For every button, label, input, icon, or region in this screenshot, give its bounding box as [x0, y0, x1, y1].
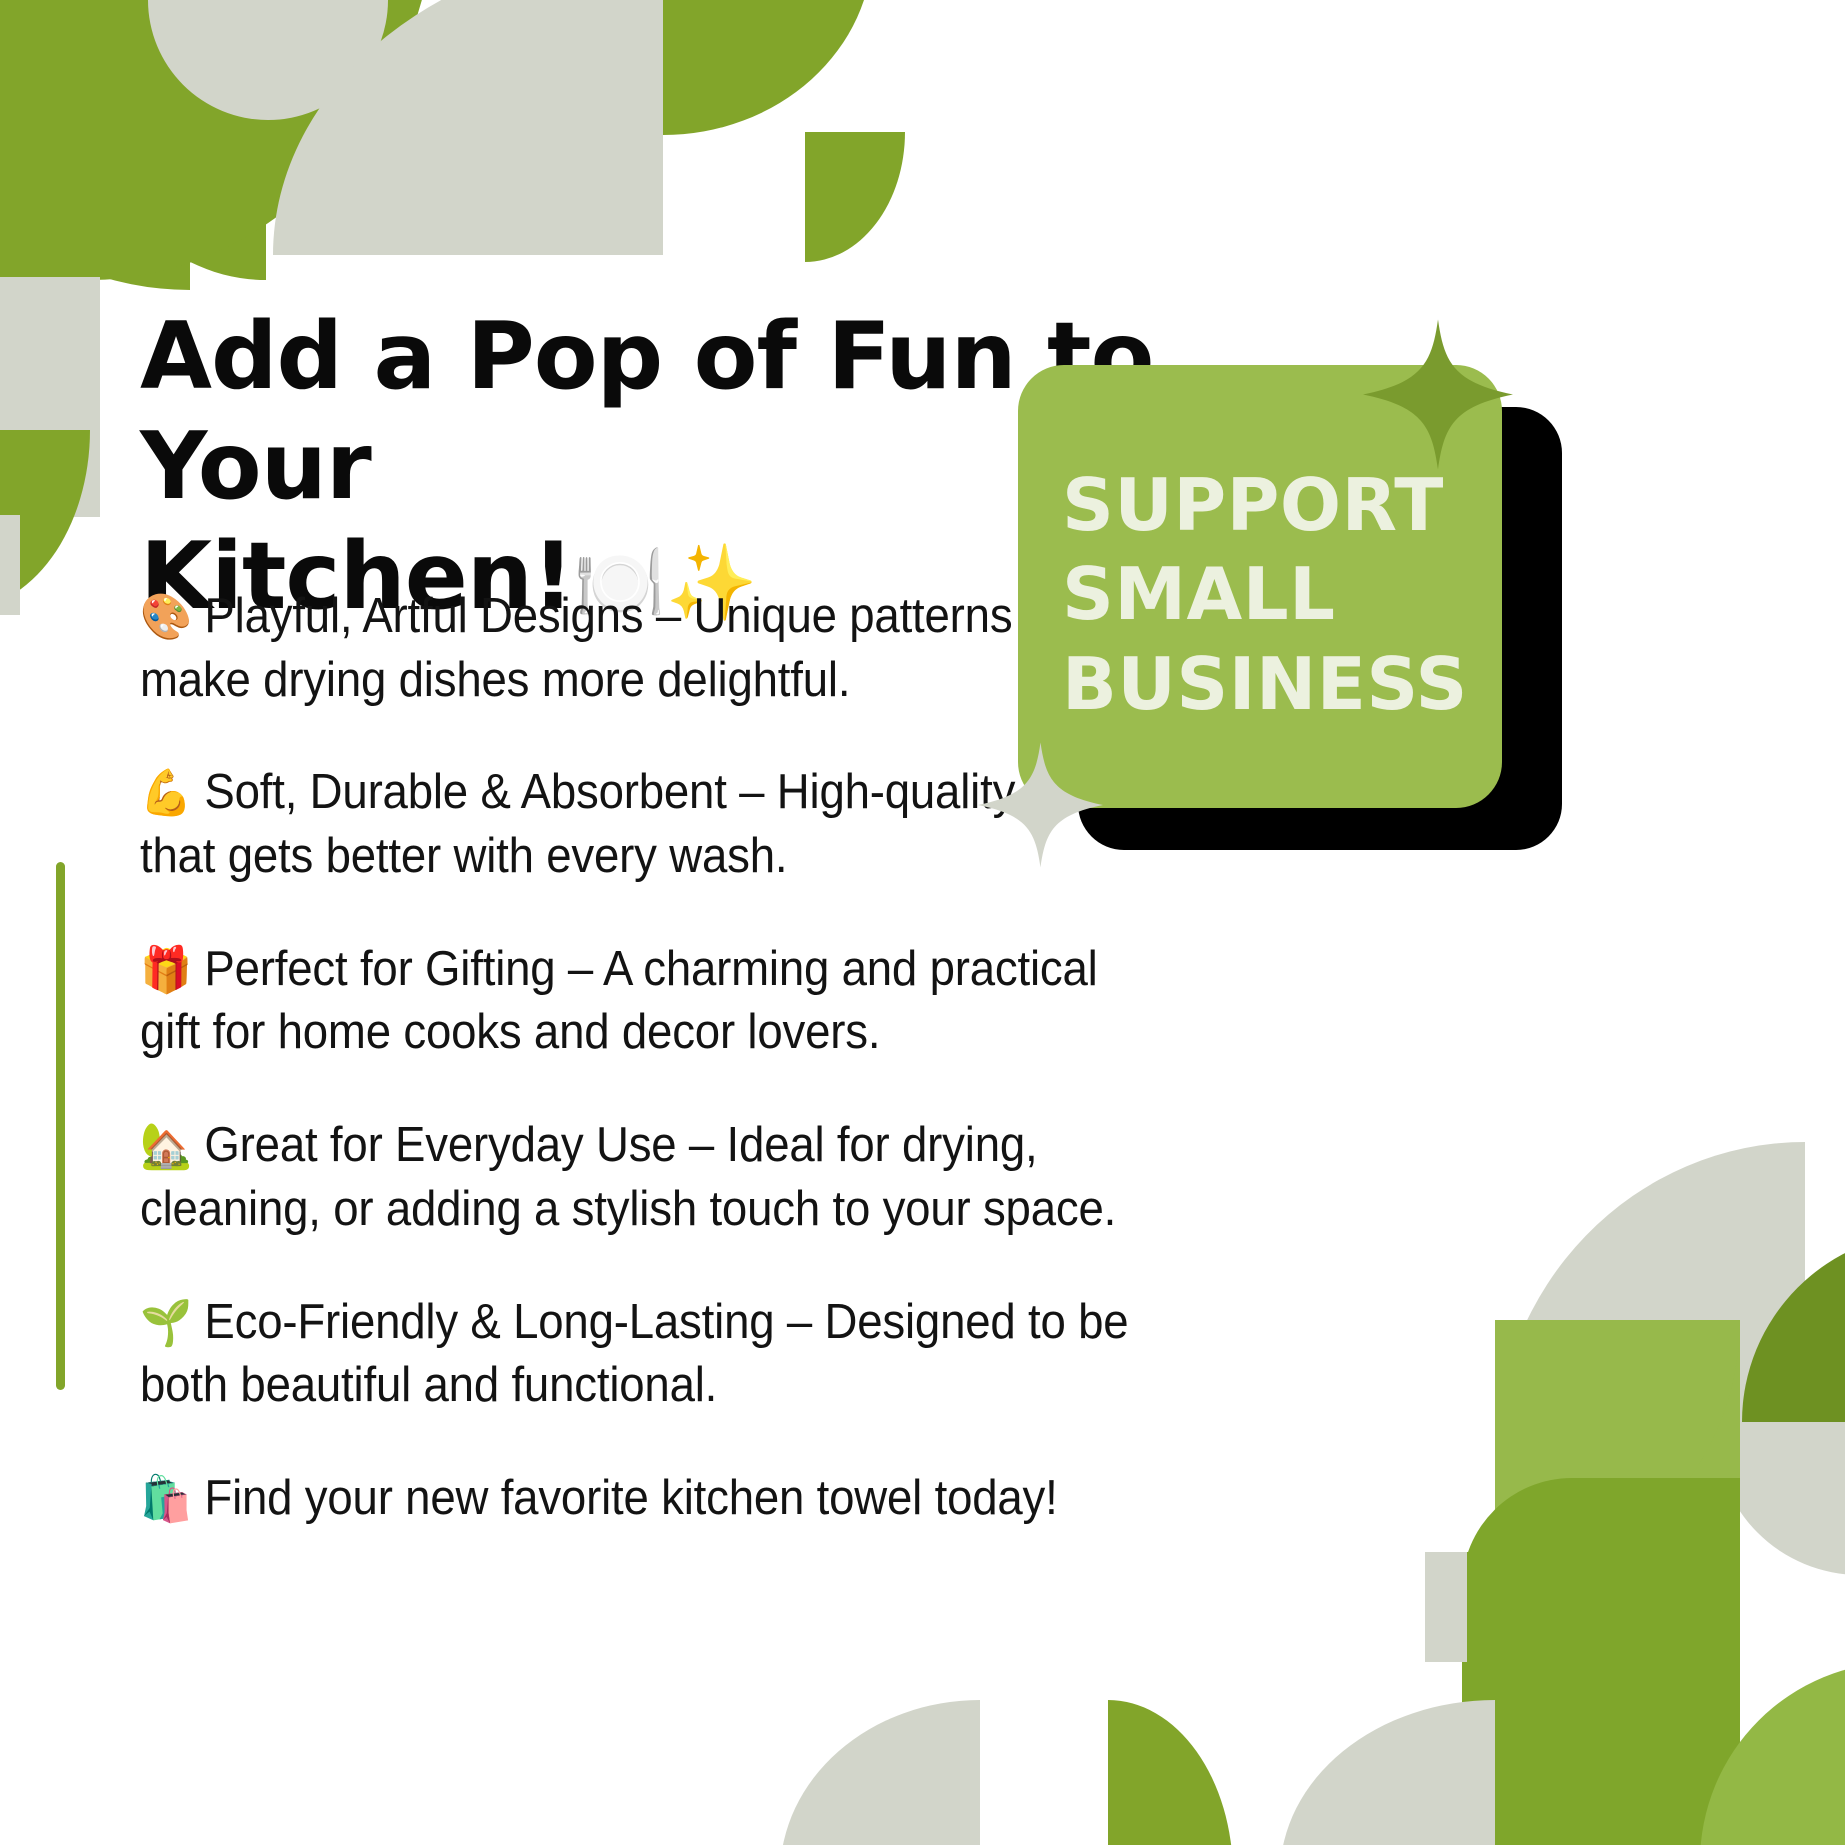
content-layer: Add a Pop of Fun to YourKitchen!🍽️✨ 🎨 Pl… [0, 0, 1845, 1845]
list-item-text: Eco-Friendly & Long-Lasting – Designed t… [140, 1295, 1128, 1413]
badge-line-1: SUPPORT [1062, 461, 1482, 550]
poster-canvas: Add a Pop of Fun to YourKitchen!🍽️✨ 🎨 Pl… [0, 0, 1845, 1845]
feature-list: 🎨 Playful, Artful Designs – Unique patte… [140, 536, 1170, 1531]
list-item: 🏡 Great for Everyday Use – Ideal for dry… [140, 1114, 1168, 1241]
list-item-text: Perfect for Gifting – A charming and pra… [140, 942, 1098, 1060]
badge-line-3: BUSINESS [1062, 640, 1482, 729]
artist-palette-icon: 🎨 [140, 591, 192, 642]
list-item: 🎁 Perfect for Gifting – A charming and p… [140, 938, 1168, 1065]
support-small-business-badge: SUPPORT SMALL BUSINESS [1018, 365, 1578, 855]
headline-line-1: Add a Pop of Fun to Your [140, 302, 1153, 520]
seedling-icon: 🌱 [140, 1297, 192, 1348]
shopping-bags-icon: 🛍️ [140, 1473, 192, 1524]
list-item: 🌱 Eco-Friendly & Long-Lasting – Designed… [140, 1291, 1168, 1418]
list-item-text: Great for Everyday Use – Ideal for dryin… [140, 1118, 1116, 1236]
badge-text: SUPPORT SMALL BUSINESS [1062, 461, 1482, 729]
list-item-text: Find your new favorite kitchen towel tod… [204, 1471, 1057, 1525]
flexed-biceps-icon: 💪 [140, 767, 192, 818]
sparkle-topright-icon [1363, 317, 1513, 472]
list-item: 🎨 Playful, Artful Designs – Unique patte… [140, 585, 1168, 712]
house-with-garden-icon: 🏡 [140, 1120, 192, 1171]
wrapped-gift-icon: 🎁 [140, 944, 192, 995]
sparkle-bottomleft-icon [978, 740, 1103, 870]
list-item: 🛍️ Find your new favorite kitchen towel … [140, 1467, 1168, 1531]
left-accent-rule [56, 862, 65, 1390]
list-item-text: Playful, Artful Designs – Unique pattern… [140, 589, 1100, 707]
badge-line-2: SMALL [1062, 550, 1482, 639]
